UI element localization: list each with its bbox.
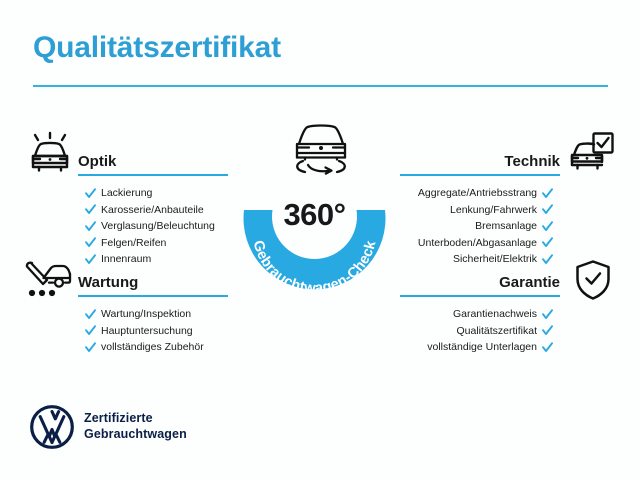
section-head: Optik — [78, 146, 228, 176]
list-item: Verglasung/Beleuchtung — [85, 218, 228, 235]
section-head: Technik — [400, 146, 560, 176]
list-item: Wartung/Inspektion — [85, 306, 228, 323]
check-icon — [85, 254, 96, 265]
check-icon — [542, 204, 553, 215]
check-icon — [542, 254, 553, 265]
list-item-label: Unterboden/Abgasanlage — [418, 235, 537, 252]
section-title-garantie: Garantie — [499, 274, 560, 291]
wrench-car-service-icon — [23, 259, 73, 304]
badge-center-label: 360° — [232, 197, 397, 233]
section-title-technik: Technik — [504, 153, 560, 170]
list-item-label: Qualitätszertifikat — [456, 323, 537, 340]
list-item: Bremsanlage — [400, 218, 553, 235]
section-technik: Technik Aggregate/Antriebsstrang Lenkung… — [400, 146, 560, 268]
list-item-label: Innenraum — [101, 251, 151, 268]
list-item: Sicherheit/Elektrik — [400, 251, 553, 268]
header-divider — [33, 85, 608, 87]
check-icon — [542, 221, 553, 232]
list-item: vollständige Unterlagen — [400, 339, 553, 356]
list-item: Lenkung/Fahrwerk — [400, 202, 553, 219]
list-item-label: Felgen/Reifen — [101, 235, 166, 252]
list-item-label: Aggregate/Antriebsstrang — [418, 185, 537, 202]
list-item-label: Bremsanlage — [475, 218, 537, 235]
check-icon — [542, 325, 553, 336]
section-optik: Optik Lackierung Karosserie/Anbauteile V… — [78, 146, 228, 268]
check-icon — [85, 309, 96, 320]
section-wartung: Wartung Wartung/Inspektion Hauptuntersuc… — [78, 267, 228, 356]
footer-line-1: Zertifizierte — [84, 410, 187, 426]
section-divider — [400, 174, 560, 176]
check-icon — [542, 237, 553, 248]
page-title: Qualitätszertifikat — [33, 31, 281, 65]
section-head: Wartung — [78, 267, 228, 297]
check-icon — [85, 325, 96, 336]
volkswagen-logo — [30, 405, 74, 449]
list-item-label: Verglasung/Beleuchtung — [101, 218, 215, 235]
list-item-label: Garantienachweis — [453, 306, 537, 323]
section-garantie: Garantie Garantienachweis Qualitätszerti… — [400, 267, 560, 356]
section-title-wartung: Wartung — [78, 274, 138, 291]
list-item-label: Karosserie/Anbauteile — [101, 202, 204, 219]
list-item-label: Lackierung — [101, 185, 152, 202]
check-icon — [85, 221, 96, 232]
list-item-label: Hauptuntersuchung — [101, 323, 193, 340]
car-checkbox-icon — [567, 131, 615, 178]
checklist-garantie: Garantienachweis Qualitätszertifikat vol… — [400, 306, 553, 356]
shield-check-icon — [574, 259, 612, 306]
section-divider — [78, 295, 228, 297]
footer-logo-text: Zertifizierte Gebrauchtwagen — [84, 410, 187, 442]
list-item-label: Sicherheit/Elektrik — [453, 251, 537, 268]
check-icon — [85, 237, 96, 248]
section-head: Garantie — [400, 267, 560, 297]
section-divider — [400, 295, 560, 297]
check-icon — [85, 204, 96, 215]
car-wash-sparkle-icon — [27, 131, 73, 178]
list-item: Hauptuntersuchung — [85, 323, 228, 340]
list-item: Garantienachweis — [400, 306, 553, 323]
list-item: Innenraum — [85, 251, 228, 268]
list-item: Lackierung — [85, 185, 228, 202]
section-divider — [78, 174, 228, 176]
checklist-technik: Aggregate/Antriebsstrang Lenkung/Fahrwer… — [400, 185, 553, 268]
list-item: vollständiges Zubehör — [85, 339, 228, 356]
check-icon — [542, 188, 553, 199]
list-item-label: vollständige Unterlagen — [427, 339, 537, 356]
list-item-label: Wartung/Inspektion — [101, 306, 191, 323]
list-item: Qualitätszertifikat — [400, 323, 553, 340]
certificate-page: Qualitätszertifikat — [0, 0, 640, 480]
section-title-optik: Optik — [78, 153, 116, 170]
footer-line-2: Gebrauchtwagen — [84, 426, 187, 442]
check-icon — [542, 309, 553, 320]
car-rotation-icon — [281, 120, 361, 176]
check-icon — [85, 342, 96, 353]
list-item: Unterboden/Abgasanlage — [400, 235, 553, 252]
list-item-label: vollständiges Zubehör — [101, 339, 204, 356]
list-item: Felgen/Reifen — [85, 235, 228, 252]
list-item: Aggregate/Antriebsstrang — [400, 185, 553, 202]
list-item-label: Lenkung/Fahrwerk — [450, 202, 537, 219]
check-icon — [85, 188, 96, 199]
checklist-optik: Lackierung Karosserie/Anbauteile Verglas… — [85, 185, 228, 268]
checklist-wartung: Wartung/Inspektion Hauptuntersuchung vol… — [85, 306, 228, 356]
check-icon — [542, 342, 553, 353]
list-item: Karosserie/Anbauteile — [85, 202, 228, 219]
